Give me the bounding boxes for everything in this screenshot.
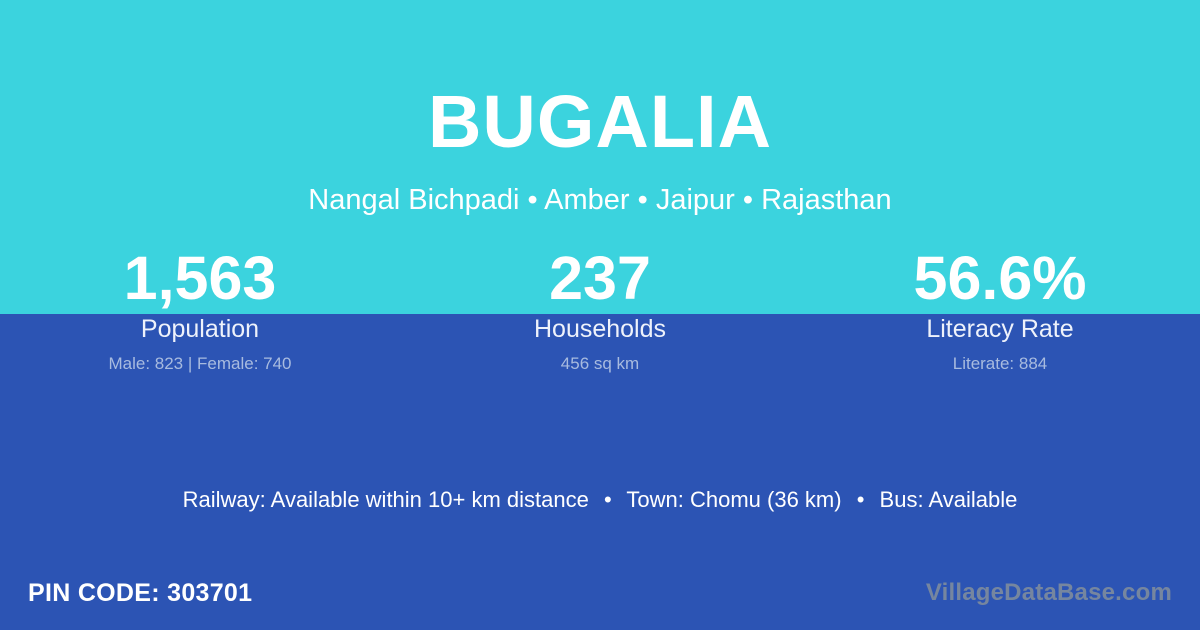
stat-population: 1,563 Population Male: 823 | Female: 740	[0, 243, 400, 388]
village-info-card: BUGALIA Nangal Bichpadi • Amber • Jaipur…	[0, 0, 1200, 630]
amenities-line: Railway: Available within 10+ km distanc…	[0, 485, 1200, 515]
amenity-separator-icon: •	[848, 485, 874, 515]
stat-population-value: 1,563	[0, 243, 400, 313]
stat-households: 237 Households 456 sq km	[400, 243, 800, 388]
card-footer: PIN CODE: 303701 VillageDataBase.com	[0, 573, 1200, 613]
amenity-bus: Bus: Available	[880, 487, 1018, 512]
stat-households-value: 237	[400, 243, 800, 313]
stat-literacy-label: Literacy Rate	[800, 314, 1200, 345]
statistics-row: 1,563 Population Male: 823 | Female: 740…	[0, 243, 1200, 388]
amenity-separator-icon: •	[595, 485, 621, 515]
page-title: BUGALIA	[0, 82, 1200, 162]
stat-literacy-value: 56.6%	[800, 243, 1200, 313]
stat-households-sub: 456 sq km	[400, 353, 800, 375]
location-breadcrumb: Nangal Bichpadi • Amber • Jaipur • Rajas…	[0, 182, 1200, 218]
stat-households-label: Households	[400, 314, 800, 345]
stat-population-label: Population	[0, 314, 400, 345]
amenity-railway: Railway: Available within 10+ km distanc…	[183, 487, 589, 512]
stat-population-sub: Male: 823 | Female: 740	[0, 353, 400, 375]
site-brand: VillageDataBase.com	[926, 576, 1200, 610]
amenity-town: Town: Chomu (36 km)	[626, 487, 841, 512]
stat-literacy-sub: Literate: 884	[800, 353, 1200, 375]
pin-code: PIN CODE: 303701	[0, 576, 252, 610]
stat-literacy: 56.6% Literacy Rate Literate: 884	[800, 243, 1200, 388]
